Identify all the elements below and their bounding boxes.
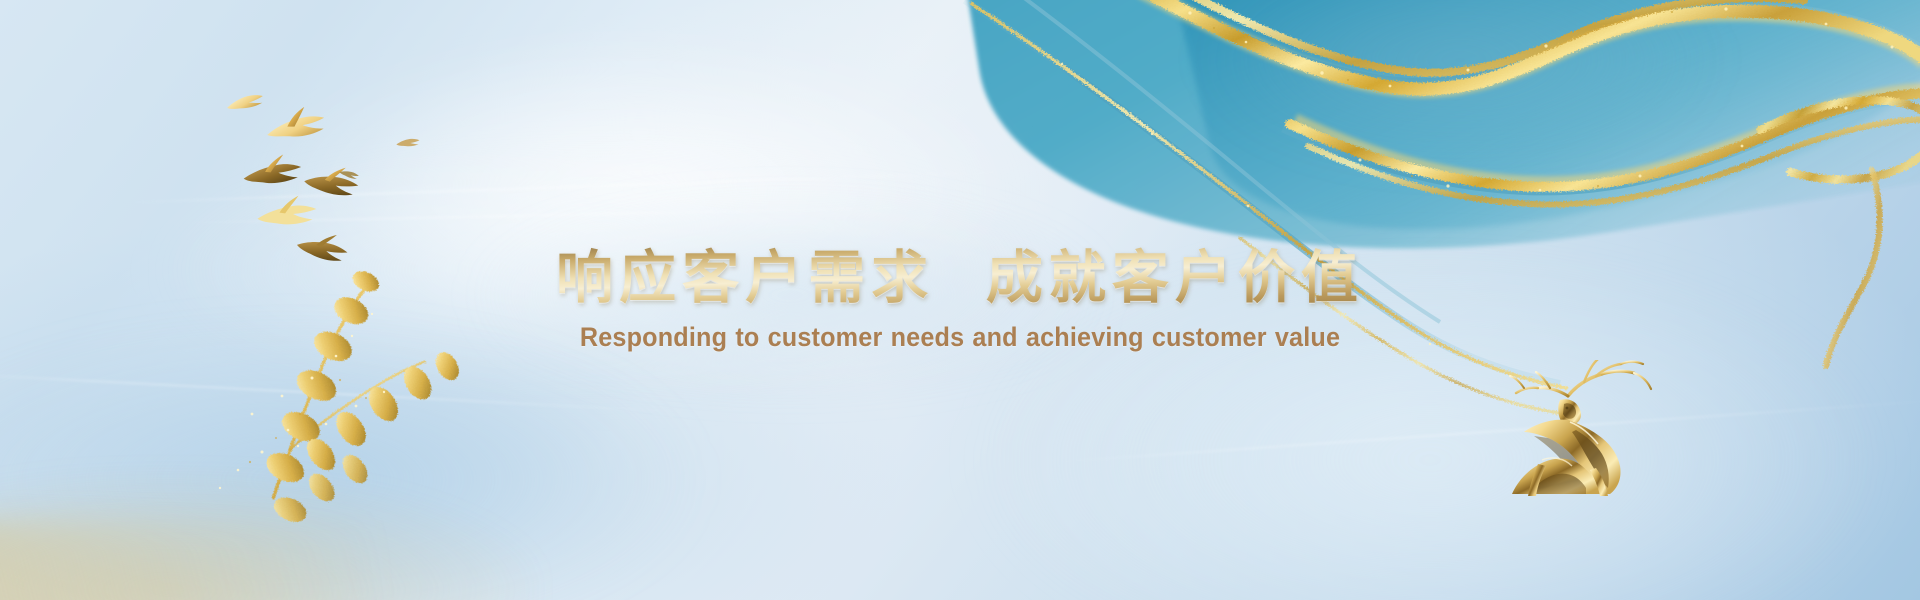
banner-text-block: 响应客户需求 成就客户价值 Responding to customer nee… (0, 246, 1920, 353)
banner-subheadline-english: Responding to customer needs and achievi… (48, 322, 1872, 353)
banner-headline-chinese: 响应客户需求 成就客户价值 (0, 246, 1920, 310)
hero-banner: 响应客户需求 成就客户价值 Responding to customer nee… (0, 0, 1920, 600)
gold-wash-bottom-left-2 (0, 520, 380, 600)
